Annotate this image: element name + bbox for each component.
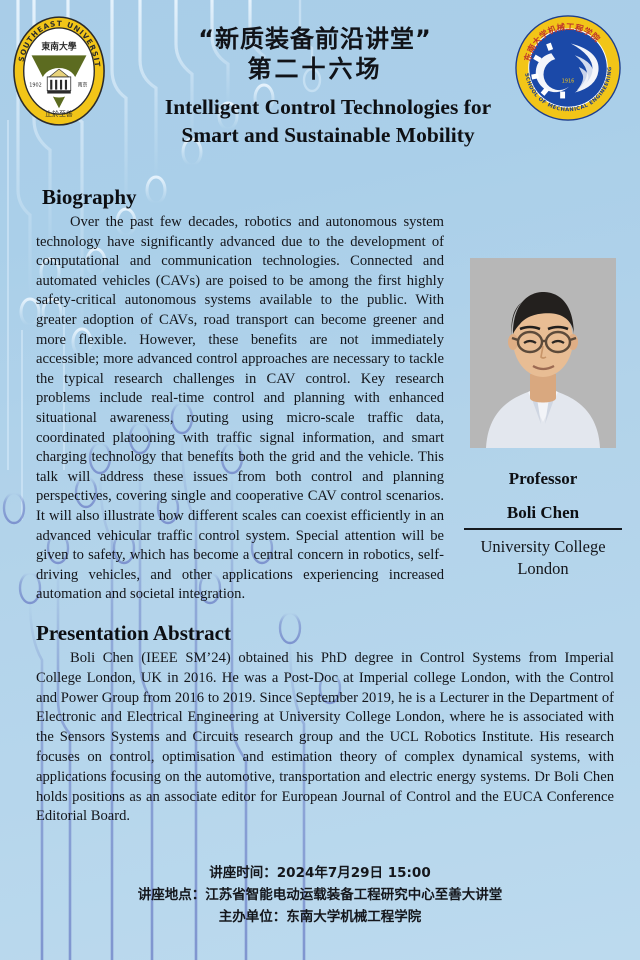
session-number: 第二十六场: [118, 54, 512, 84]
speaker-panel: Professor Boli Chen University College L…: [462, 250, 624, 580]
event-time: 讲座时间：2024年7月29日 15:00: [0, 862, 640, 884]
event-organizer: 主办单位：东南大学机械工程学院: [0, 906, 640, 928]
speaker-affiliation-line-2: London: [462, 558, 624, 580]
biography-text: Over the past few decades, robotics and …: [36, 213, 444, 605]
biography-heading: Biography: [42, 184, 444, 210]
speaker-affiliation-line-1: University College: [462, 536, 624, 558]
poster-title-block: “新质装备前沿讲堂” 第二十六场 Intelligent Control Tec…: [118, 24, 512, 149]
biography-section: Biography Over the past few decades, rob…: [36, 184, 444, 605]
abstract-section: Presentation Abstract Boli Chen (IEEE SM…: [36, 620, 614, 827]
southeast-university-logo: 東南大學 1902 南京 止於至善 SOUTHEAST UNIVERSITY: [10, 12, 108, 130]
svg-text:東南大學: 東南大學: [41, 40, 76, 52]
abstract-heading: Presentation Abstract: [36, 620, 614, 646]
talk-title-line-2: Smart and Sustainable Mobility: [118, 121, 538, 149]
speaker-role: Professor: [462, 468, 624, 490]
event-details-footer: 讲座时间：2024年7月29日 15:00 讲座地点：江苏省智能电动运载装备工程…: [0, 862, 640, 928]
svg-text:1902: 1902: [29, 83, 41, 89]
poster-header: 東南大學 1902 南京 止於至善 SOUTHEAST UNIVERSITY: [0, 0, 640, 176]
talk-title: Intelligent Control Technologies for Sma…: [118, 93, 538, 149]
event-location: 讲座地点：江苏省智能电动运载装备工程研究中心至善大讲堂: [0, 884, 640, 906]
svg-text:南京: 南京: [78, 82, 88, 89]
speaker-portrait: [470, 258, 616, 448]
svg-text:止於至善: 止於至善: [45, 109, 73, 118]
svg-text:1916: 1916: [562, 79, 574, 85]
abstract-text: Boli Chen (IEEE SM’24) obtained his PhD …: [36, 649, 614, 827]
seminar-poster: 東南大學 1902 南京 止於至善 SOUTHEAST UNIVERSITY: [0, 0, 640, 960]
speaker-name: Boli Chen: [462, 502, 624, 524]
series-title: “新质装备前沿讲堂”: [118, 24, 512, 54]
speaker-divider: [464, 528, 622, 530]
talk-title-line-1: Intelligent Control Technologies for: [118, 93, 538, 121]
